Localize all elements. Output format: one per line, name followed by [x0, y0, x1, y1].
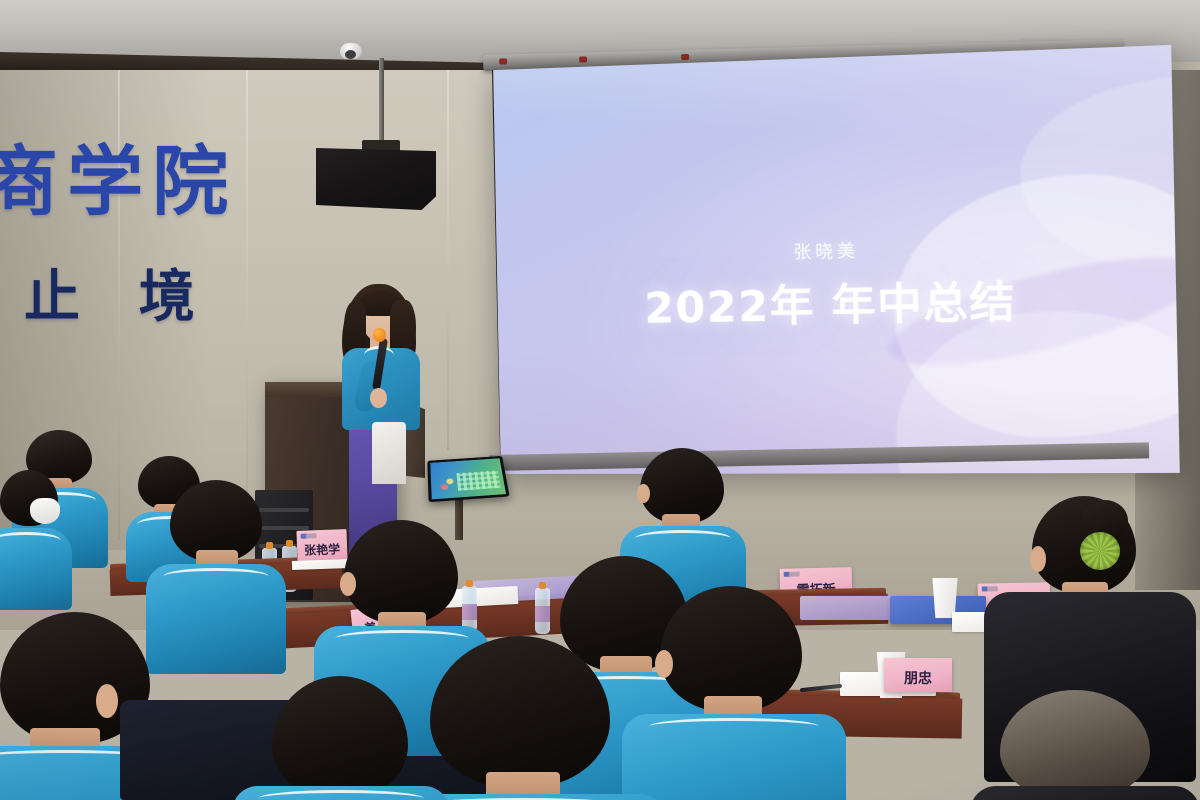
- ear: [96, 684, 118, 718]
- presenter-hand: [370, 388, 387, 408]
- uniform-shirt: [232, 786, 450, 800]
- name-card: 张艳学: [296, 529, 347, 563]
- water-bottle: [535, 588, 550, 634]
- rack-shelf: [259, 508, 309, 512]
- uniform-shirt: [146, 564, 286, 674]
- face-mask: [30, 498, 60, 524]
- ceiling-speaker: [316, 148, 436, 210]
- microphone-head-icon: [373, 328, 386, 342]
- wall-sign-secondary: 止 境: [24, 252, 214, 333]
- ear: [1030, 546, 1046, 572]
- company-logo-icon: [301, 533, 317, 539]
- speaker-mount-pole: [379, 58, 384, 148]
- confidence-monitor[interactable]: [427, 456, 509, 502]
- ear: [340, 572, 356, 596]
- hair-scrunchie: [1080, 532, 1120, 570]
- slide-title: 2022年 年中总结: [497, 264, 1177, 338]
- presenter: [330, 280, 440, 480]
- head: [640, 448, 724, 524]
- uniform-shirt: [622, 714, 846, 800]
- housing-indicator: [499, 58, 507, 64]
- bottle-label: [462, 604, 477, 620]
- uniform-shirt: [0, 528, 72, 610]
- rack-shelf: [259, 526, 309, 530]
- wall-sign-primary: 商学院: [0, 120, 237, 230]
- company-logo-icon: [784, 571, 800, 576]
- ear: [655, 650, 673, 678]
- projection-screen: 张晓美 2022年 年中总结: [493, 45, 1180, 474]
- name-card-label: 朋忠: [904, 668, 932, 688]
- housing-indicator: [579, 56, 587, 62]
- dome-camera-icon: [340, 43, 362, 59]
- ear: [637, 484, 650, 503]
- monitor-grid-overlay: [457, 470, 501, 490]
- monitor-display: [430, 458, 506, 499]
- company-logo-icon: [982, 586, 998, 591]
- presenter-trousers: [372, 422, 406, 484]
- dark-top: [970, 786, 1200, 800]
- bottle-label: [535, 606, 550, 622]
- wall-panel-seam: [246, 70, 248, 540]
- wall-panel-seam: [447, 70, 449, 450]
- name-card-label: 张艳学: [304, 540, 341, 558]
- housing-indicator: [681, 54, 689, 60]
- conference-room-photo: 商学院 止 境 张晓美 2022年 年中总结: [0, 0, 1200, 800]
- name-card: 朋忠: [884, 658, 952, 692]
